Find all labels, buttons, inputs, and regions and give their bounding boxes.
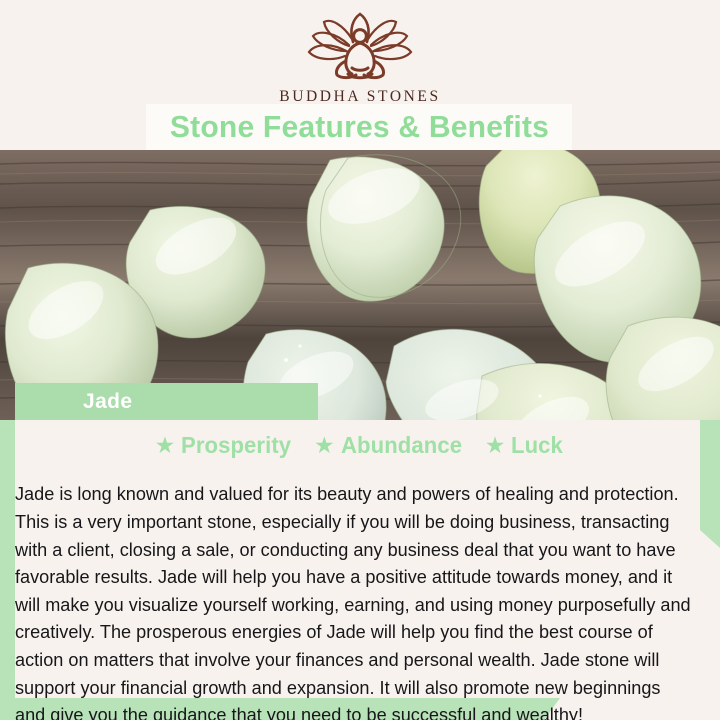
- jade-stones-image: [0, 150, 720, 420]
- star-icon: ★: [485, 434, 506, 457]
- benefit-item-abundance: ★ Abundance: [314, 432, 467, 459]
- page-title: Stone Features & Benefits: [169, 109, 548, 145]
- stone-description: Jade is long known and valued for its be…: [15, 480, 693, 720]
- stone-name-text: Jade: [83, 390, 132, 414]
- benefit-label: Luck: [511, 432, 563, 459]
- stone-info-card: BUDDHA STONES: [0, 0, 720, 720]
- benefit-item-prosperity: ★ Prosperity: [155, 432, 296, 459]
- star-icon: ★: [314, 434, 335, 457]
- stone-photo: [0, 150, 720, 420]
- benefit-label: Prosperity: [181, 432, 291, 459]
- stone-name-label: Jade: [15, 383, 318, 420]
- benefits-row: ★ Prosperity ★ Abundance ★ Luck: [0, 428, 720, 462]
- benefit-label: Abundance: [341, 432, 462, 459]
- brand-logo: BUDDHA STONES: [0, 12, 720, 106]
- benefit-item-luck: ★ Luck: [485, 432, 566, 459]
- star-icon: ★: [155, 434, 176, 457]
- title-banner: Stone Features & Benefits: [146, 104, 572, 150]
- lotus-meditation-figure-icon: [285, 12, 435, 84]
